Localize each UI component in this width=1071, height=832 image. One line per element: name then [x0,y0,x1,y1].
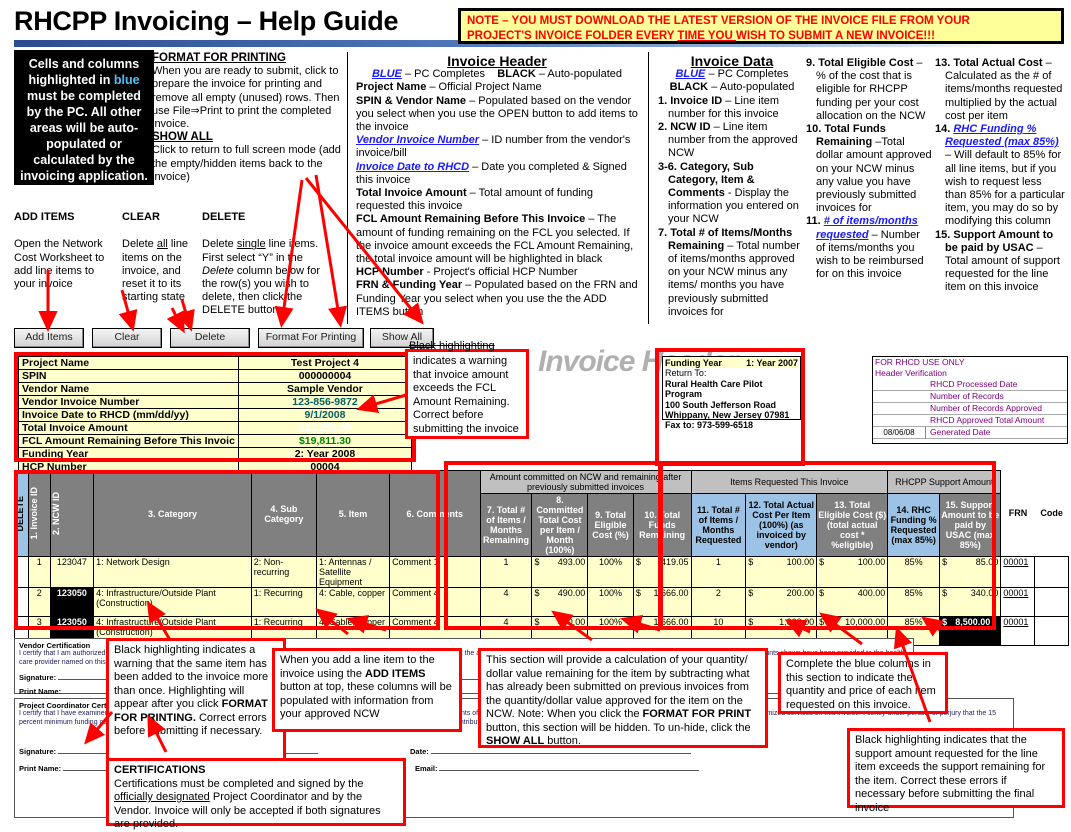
return-address-3: Whippany, New Jersey 07981 [665,410,798,420]
cell-ncw-id: 123050 [50,588,94,617]
col-9-eligible-pct: 9. Total Eligible Cost (%) [588,494,634,557]
callout-calculation-section: This section will provide a calculation … [478,648,768,748]
clear-heading: CLEAR [122,211,194,224]
term-number: 9. [806,57,818,69]
invoice-header-table-frame: Project NameTest Project 4SPIN000000004V… [14,352,416,462]
term-desc: – Will default to 85% for all line items… [945,149,1065,227]
invoice-data-term-5: 9. Total Eligible Cost – % of the cost t… [806,57,932,123]
cell-delete-flag[interactable] [15,557,29,588]
funding-year-value: 1: Year 2007 [746,358,798,368]
invoice-data-key-black: BLACK – Auto-populated [658,81,806,94]
rhcd-title: FOR RHCD USE ONLY [873,357,1067,368]
header-label: SPIN [19,370,239,383]
invoice-data-terms-2: 9. Total Eligible Cost – % of the cost t… [806,57,932,281]
cell-committed-cost-value: 490.00 [558,588,586,598]
cell-actual-cost-value: 200.00 [787,588,815,598]
cell-comments: Comment 1 [390,557,481,588]
cell-funds-remaining-value: 1,666.00 [653,588,688,598]
invoice-data-legend-2: 9. Total Eligible Cost – % of the cost t… [806,57,932,281]
cell-sub-category: 2: Non-recurring [251,557,316,588]
cell-ncw-id: 123047 [50,557,94,588]
table-row: 21230504: Infrastructure/Outside Plant (… [15,588,1069,617]
header-value[interactable]: 123-856-9872 [238,396,411,409]
group-requested-header: Items Requested This Invoice [691,471,888,494]
term-number: 2. [658,121,670,133]
invoice-data-legend-title: Invoice Data [658,55,806,68]
add-items-text: Open the Network Cost Worksheet to add l… [14,238,104,290]
clear-text-underline: all [157,238,168,250]
note-line2-underline: TIME YOU [677,30,736,42]
cell-support-amount-value: 8,500.00 [955,617,990,627]
blue-cells-notice: Cells and columns highlighted in blue mu… [14,50,154,185]
rhcd-label: Generated Date [926,427,990,438]
clear-text-a: Delete [122,238,157,250]
cell-support-amount-value: 85.00 [976,557,999,567]
cell-actual-cost[interactable]: $100.00 [746,557,817,588]
cell-items-requested[interactable]: 2 [691,588,746,617]
callout-add-items: When you add a line item to the invoice … [272,648,462,732]
callout-cert-heading: CERTIFICATIONS [114,764,205,776]
callout-calc-d: SHOW ALL [486,735,544,747]
cell-items-remaining: 1 [480,557,532,588]
callout-blue-columns: Complete the blue columns in this sectio… [778,652,948,714]
return-address-1: Rural Health Care Pilot Program [665,379,798,400]
delete-instructions: DELETE Delete single line items. First s… [202,196,332,318]
vendor-signature-label: Signature: [19,673,56,682]
invoice-header-term-0: Project Name – Official Project Name [356,81,638,94]
invoice-header-term-5: FCL Amount Remaining Before This Invoice… [356,213,638,266]
show-all-heading: SHOW ALL [152,131,344,144]
col-code: Code [1035,471,1069,557]
invoice-header-legend-title: Invoice Header [356,55,638,68]
cell-committed-cost-value: 493.00 [558,557,586,567]
cell-total-eligible-cost: $100.00 [817,557,888,588]
invoice-header-term-3: Invoice Date to RHCD – Date you complete… [356,161,638,187]
invoice-data-term-2: 3-6. Category, Sub Category, Item & Comm… [658,161,806,227]
term-desc: - Project's official HCP Number [424,266,578,278]
header-label: Project Name [19,357,239,370]
invoice-header-legend-key: BLUE – PC Completes BLACK – Auto-populat… [356,68,638,81]
header-value: Test Project 4 [238,357,411,370]
term-number: 1. [658,95,670,107]
cell-sub-category: 1: Recurring [251,588,316,617]
group-committed-header: Amount committed on NCW and remaining af… [480,471,691,494]
cell-code [1035,588,1069,617]
return-fax: Fax to: 973-599-6518 [665,420,798,430]
col-15-support-amount: 15. Support Amount to be paid by USAC (m… [940,494,1001,557]
invoice-toolbar: Add Items Clear Delete Format For Printi… [14,328,444,348]
invoice-header-table: Project NameTest Project 4SPIN000000004V… [18,356,412,487]
format-printing-text: When you are ready to submit, click to p… [152,65,344,131]
cell-frn: 00001 [1001,588,1035,617]
invoice-header-row: Vendor NameSample Vendor [19,383,412,396]
invoice-header-row: Funding Year2: Year 2008 [19,448,412,461]
column-divider-2 [648,52,649,324]
cell-funds-remaining-value: 419.05 [661,557,689,567]
cell-category: 4: Infrastructure/Outside Plant (Constru… [94,588,252,617]
cell-code [1035,557,1069,588]
callout-support-exceeds: Black highlighting indicates that the su… [847,728,1065,808]
cell-eligible-pct: 100% [588,588,634,617]
invoice-header-row: FCL Amount Remaining Before This Invoic$… [19,435,412,448]
data-legend-blue: BLUE [675,68,705,80]
legend-black-rest: – Auto-populated [536,68,622,80]
invoice-data-legend-3: 13. Total Actual Cost – Calculated as th… [935,57,1065,295]
invoice-header-term-2: Vendor Invoice Number – ID number from t… [356,134,638,160]
return-to-label: Return To: [665,368,798,378]
term: Vendor Invoice Number [356,134,479,146]
callout-fcl-text: indicates a warning that invoice amount … [413,355,519,435]
term: Invoice ID [670,95,722,107]
notice-part2: must be completed by the PC. All other a… [20,89,148,183]
col-13-total-eligible-cost: 13. Total Eligible Cost ($) (total actua… [817,494,888,557]
cell-funds-remaining-value: 1,666.00 [653,617,688,627]
format-printing-heading: FORMAT FOR PRINTING [152,52,344,65]
note-line2b: WISH TO SUBMIT A NEW INVOICE!!! [736,30,935,42]
cell-actual-cost[interactable]: $200.00 [746,588,817,617]
page-title: RHCPP Invoicing – Help Guide [14,6,398,37]
callout-certifications: CERTIFICATIONS Certifications must be co… [106,758,406,826]
pc-email-line[interactable] [439,762,699,771]
rhcd-value: 08/06/08 [873,427,926,438]
header-label: FCL Amount Remaining Before This Invoic [19,435,239,448]
pc-email-label: Email: [415,764,438,773]
data-legend-black-rest: – Auto-populated [708,81,794,93]
clear-instructions: CLEAR Delete all line items on the invoi… [122,196,194,318]
header-value: 000000004 [238,370,411,383]
invoice-data-table-wrap: DELETE 1. Invoice ID 2. NCW ID 3. Catego… [14,470,1069,646]
vendor-printname-label: Print Name: [19,687,61,696]
invoice-data-legend: Invoice Data BLUE – PC Completes BLACK –… [658,55,806,319]
rhcd-row: RHCD Approved Total Amount [873,415,1067,427]
invoice-header-term-4: Total Invoice Amount – Total amount of f… [356,187,638,213]
invoice-data-rows: 11230471: Network Design2: Non-recurring… [15,557,1069,646]
legend-blue: BLUE [372,68,402,80]
cell-actual-cost-value: 1,000.00 [779,617,814,627]
callout-fcl-title: Black highlighting [409,340,495,352]
pc-date-label: Date: [410,747,429,756]
cell-committed-cost: $493.00 [532,557,588,588]
term-number: 3-6. [658,161,680,173]
delete-text-italic: Delete [202,265,234,277]
cell-rhc-funding-pct[interactable]: 85% [888,588,940,617]
cell-funds-remaining: $419.05 [633,557,691,588]
term: SPIN & Vendor Name [356,95,466,107]
col-8-committed-cost: 8. Committed Total Cost per Item / Month… [532,494,588,557]
notice-blue-word: blue [114,73,140,87]
cell-frn: 00001 [1001,557,1035,588]
add-items-heading: ADD ITEMS [14,211,114,224]
return-address-2: 100 South Jefferson Road [665,400,798,410]
frn-value: 00001 [1003,588,1028,598]
add-items-button[interactable]: Add Items [14,328,84,348]
col-12-actual-cost: 12. Total Actual Cost Per Item (100%) (a… [746,494,817,557]
cell-items-requested[interactable]: 1 [691,557,746,588]
cell-item: 1: Antennas / Satellite Equipment [316,557,389,588]
cell-total-eligible-cost: $400.00 [817,588,888,617]
cell-committed-cost-value: 490.00 [558,617,586,627]
term-number: 15. [935,229,953,241]
cell-comments: Comment 4 [390,588,481,617]
callout-fcl-warning: Black highlighting indicates a warning t… [405,349,529,439]
rhcd-label: RHCD Processed Date [926,379,1017,390]
invoice-data-term-11: 15. Support Amount to be paid by USAC – … [935,229,1065,295]
col-14-rhc-funding-pct: 14. RHC Funding % Requested (max 85%) [888,494,940,557]
delete-text-a: Delete [202,238,237,250]
cell-invoice-id: 1 [28,557,50,588]
col-10-funds-remaining: 10. Total Funds Remaining [633,494,691,557]
cell-items-remaining: 4 [480,588,532,617]
frn-value: 00001 [1003,617,1028,627]
data-legend-blue-rest: – PC Completes [705,68,788,80]
term-number: 11. [806,215,824,227]
rhcd-use-only-box: FOR RHCD USE ONLY Header Verification RH… [872,356,1068,444]
term-desc: – Official Project Name [426,81,541,93]
invoice-header-row: Vendor Invoice Number123-856-9872 [19,396,412,409]
cell-total-eligible-cost-value: 400.00 [858,588,886,598]
cell-support-amount: $85.00 [940,557,1001,588]
button-instructions-group: ADD ITEMS Open the Network Cost Workshee… [14,196,344,318]
cell-total-eligible-cost-value: 10,000.00 [845,617,885,627]
cell-delete-flag[interactable] [15,588,29,617]
col-comments: 6. Comments [390,471,481,557]
col-item: 5. Item [316,471,389,557]
header-label: Total Invoice Amount [19,422,239,435]
cell-funds-remaining: $1,666.00 [633,588,691,617]
invoice-header-term-7: FRN & Funding Year – Populated based on … [356,279,638,319]
header-value: Sample Vendor [238,383,411,396]
callout-add-items-c: button at top, these columns will be pop… [280,681,452,720]
invoice-data-key-blue: BLUE – PC Completes [658,68,806,81]
header-label: Vendor Name [19,383,239,396]
cell-eligible-pct: 100% [588,557,634,588]
col-category: 3. Category [94,471,252,557]
delete-button[interactable]: Delete [170,328,250,348]
invoice-header-row: SPIN000000004 [19,370,412,383]
invoice-header-legend: Invoice Header BLUE – PC Completes BLACK… [356,55,638,319]
rhcd-row: Number of Records Approved [873,403,1067,415]
callout-add-items-b: ADD ITEMS [365,668,426,680]
rhcd-rows: RHCD Processed DateNumber of RecordsNumb… [873,379,1067,439]
data-legend-black: BLACK [670,81,709,93]
term: Invoice Date to RHCD [356,161,469,173]
pc-signature-label: Signature: [19,747,56,756]
pc-printname-label: Print Name: [19,764,61,773]
table-row: 11230471: Network Design2: Non-recurring… [15,557,1069,588]
invoice-data-terms-3: 13. Total Actual Cost – Calculated as th… [935,57,1065,295]
cell-total-eligible-cost-value: 100.00 [858,557,886,567]
term: FCL Amount Remaining Before This Invoice [356,213,585,225]
show-all-text: Click to return to full screen mode (add… [152,144,344,184]
invoice-header-term-list: Project Name – Official Project NameSPIN… [356,81,638,319]
header-value[interactable]: 9/1/2008 [238,409,411,422]
term-number: 7. [658,227,670,239]
rhcd-label: Number of Records [926,391,1004,402]
delete-text-underline: single [237,238,266,250]
header-value: $21,250.00 [238,422,411,435]
invoice-data-term-9: 13. Total Actual Cost – Calculated as th… [935,57,1065,123]
invoice-data-term-6: 10. Total Funds Remaining –Total dollar … [806,123,932,215]
callout-cert-a: Certifications must be completed and sig… [114,778,363,790]
rhcd-label: Number of Records Approved [926,403,1042,414]
note-line2a: PROJECT'S INVOICE FOLDER EVERY [467,30,677,42]
cell-item: 4: Cable, copper [316,588,389,617]
format-for-printing-button[interactable]: Format For Printing [258,328,364,348]
term: Total Eligible Cost [818,57,913,69]
invoice-data-terms-1: 1. Invoice ID – Line item number for thi… [658,95,806,319]
rhcd-subtitle: Header Verification [873,368,1067,379]
format-printing-instructions: FORMAT FOR PRINTING When you are ready t… [152,52,344,184]
invoice-data-term-10: 14. RHC Funding % Requested (max 85%) – … [935,123,1065,229]
term: FRN & Funding Year [356,279,462,291]
cell-rhc-funding-pct[interactable]: 85% [888,557,940,588]
callout-calc-b: FORMAT FOR PRINT [643,708,752,720]
term: NCW ID [670,121,710,133]
cell-category: 1: Network Design [94,557,252,588]
col-frn: FRN [1001,471,1035,557]
col-delete: DELETE [15,471,29,557]
invoice-header-row: Invoice Date to RHCD (mm/dd/yy)9/1/2008 [19,409,412,422]
invoice-header-term-6: HCP Number - Project's official HCP Numb… [356,266,638,279]
funding-year-label: Funding Year [665,358,722,368]
funding-year-row: Funding Year 1: Year 2007 [665,358,798,368]
col-ncw-id: 2. NCW ID [50,471,94,557]
col-7-items-remaining: 7. Total # of Items / Months Remaining [480,494,532,557]
callout-calc-e: button. [544,735,581,747]
invoice-header-row: Total Invoice Amount$21,250.00 [19,422,412,435]
rhcd-row: 08/06/08Generated Date [873,427,1067,439]
term: RHC Funding % Requested (max 85%) [945,123,1059,148]
rhcd-label: RHCD Approved Total Amount [926,415,1044,426]
header-label: Vendor Invoice Number [19,396,239,409]
term: Project Name [356,81,426,93]
cell-support-amount-value: 340.00 [971,588,999,598]
clear-button[interactable]: Clear [92,328,162,348]
legend-black: BLACK [497,68,536,80]
cell-support-amount: $340.00 [940,588,1001,617]
header-value: $19,811.30 [238,435,411,448]
cell-invoice-id: 2 [28,588,50,617]
cell-actual-cost-value: 100.00 [787,557,815,567]
cell-committed-cost: $490.00 [532,588,588,617]
term-number: 13. [935,57,953,69]
add-items-instructions: ADD ITEMS Open the Network Cost Workshee… [14,196,114,318]
invoice-data-term-3: 7. Total # of Items/Months Remaining – T… [658,227,806,319]
header-label: Funding Year [19,448,239,461]
invoice-data-term-7: 11. # of items/months requested – Number… [806,215,932,281]
invoice-data-term-1: 2. NCW ID – Line item number from the ap… [658,121,806,161]
note-line1: NOTE – YOU MUST DOWNLOAD THE LATEST VERS… [467,15,970,27]
invoice-header-row: Project NameTest Project 4 [19,357,412,370]
callout-cert-b: officially designated [114,791,210,803]
header-label: Invoice Date to RHCD (mm/dd/yy) [19,409,239,422]
download-note-banner: NOTE – YOU MUST DOWNLOAD THE LATEST VERS… [458,8,1064,44]
col-11-items-requested: 11. Total # of Items / Months Requested [691,494,746,557]
rhcd-row: RHCD Processed Date [873,379,1067,391]
column-divider-1 [347,52,348,324]
cell-code [1035,617,1069,646]
invoice-data-table: DELETE 1. Invoice ID 2. NCW ID 3. Catego… [14,470,1069,646]
term: Total Invoice Amount [356,187,467,199]
term-number: 10. [806,123,824,135]
invoice-header-term-1: SPIN & Vendor Name – Populated based on … [356,95,638,135]
col-invoice-id: 1. Invoice ID [28,471,50,557]
col-sub-category: 4. Sub Category [251,471,316,557]
callout-calc-c: button, this section will be hidden. To … [486,722,751,734]
frn-value: 00001 [1003,557,1028,567]
header-value: 2: Year 2008 [238,448,411,461]
funding-year-return-box: Funding Year 1: Year 2007 Return To: Rur… [662,356,801,420]
invoice-data-term-0: 1. Invoice ID – Line item number for thi… [658,95,806,121]
legend-blue-rest: – PC Completes [402,68,485,80]
cell-frn: 00001 [1001,617,1035,646]
term: HCP Number [356,266,424,278]
delete-heading: DELETE [202,211,332,224]
vendor-cert-title: Vendor Certification [19,641,90,650]
rhcd-row: Number of Records [873,391,1067,403]
cell-support-amount: $8,500.00 [940,617,1001,646]
group-support-header: RHCPP Support Amount [888,471,1001,494]
term: Total Actual Cost [953,57,1042,69]
term-number: 14. [935,123,953,135]
